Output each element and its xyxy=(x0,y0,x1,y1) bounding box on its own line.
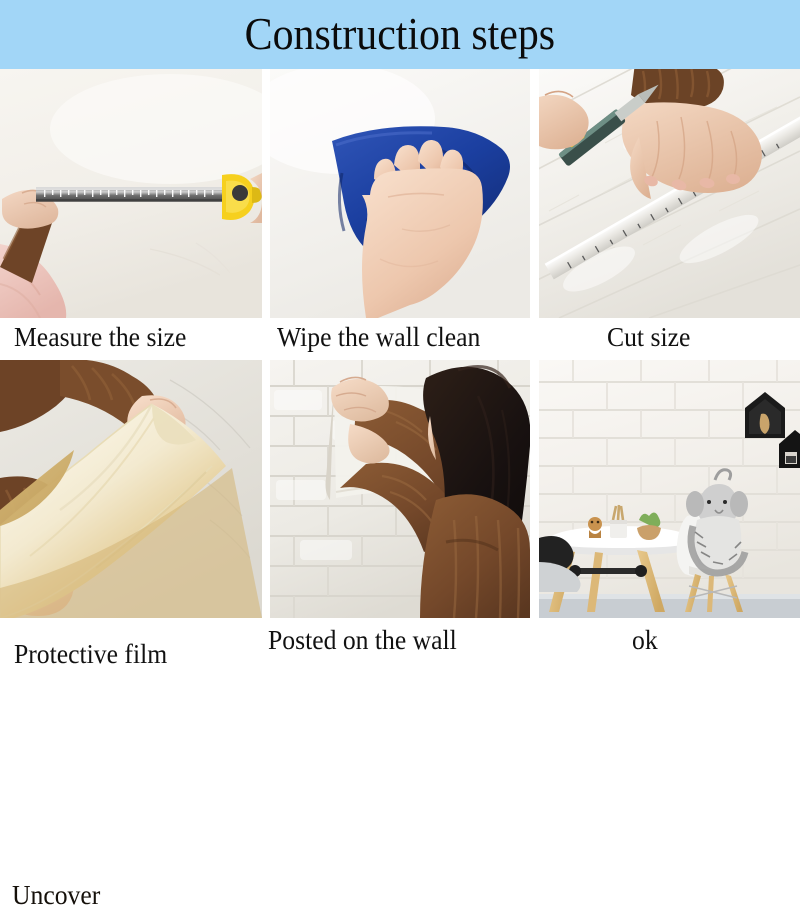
cut-size-photo xyxy=(539,69,800,318)
steps-grid: Measure the size xyxy=(0,69,800,800)
step-2-cell xyxy=(270,69,530,318)
step-4-overlay-caption: Uncover xyxy=(12,881,100,909)
infographic-page: Construction steps xyxy=(0,0,800,800)
step-5-caption: Posted on the wall xyxy=(268,625,457,655)
header-banner: Construction steps xyxy=(0,0,800,69)
page-title: Construction steps xyxy=(245,12,555,57)
posted-on-the-wall-photo xyxy=(270,360,530,618)
measure-the-size-photo xyxy=(0,69,262,318)
step-1-cell xyxy=(0,69,262,318)
step-3-caption: Cut size xyxy=(607,322,690,352)
step-4-cell: Uncover xyxy=(0,360,262,618)
uncover-protective-film-photo xyxy=(0,360,262,618)
step-6-caption: ok xyxy=(632,625,658,655)
finished-room-cell xyxy=(539,360,800,618)
finished-room-photo xyxy=(539,360,800,618)
step-2-caption: Wipe the wall clean xyxy=(277,322,480,352)
step-5-cell xyxy=(270,360,530,618)
wipe-the-wall-clean-photo xyxy=(270,69,530,318)
step-1-caption: Measure the size xyxy=(14,322,186,352)
wooden-toy xyxy=(588,517,602,538)
step-4-caption: Protective film xyxy=(14,639,167,669)
step-3-cell xyxy=(539,69,800,318)
